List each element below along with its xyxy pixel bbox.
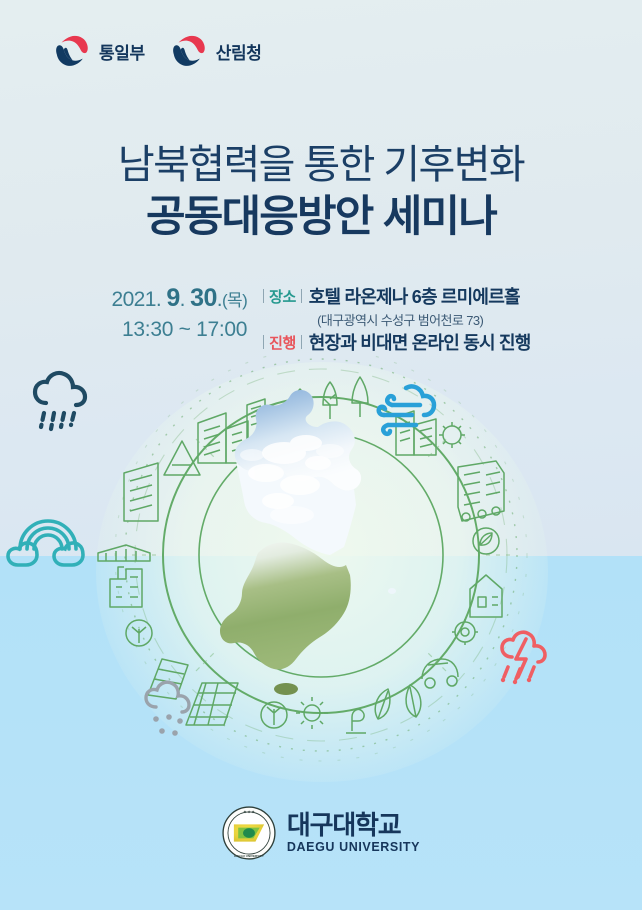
svg-text:★ ★ ★: ★ ★ ★ (242, 810, 254, 814)
wind-cloud-icon (379, 386, 434, 433)
event-datetime: 2021. 9. 30.(목) 13:30 ~ 17:00 (112, 281, 248, 344)
poster-title: 남북협력을 통한 기후변화 공동대응방안 세미나 (0, 143, 642, 243)
event-time: 13:30 ~ 17:00 (112, 316, 248, 344)
university-name-english: DAEGU UNIVERSITY (287, 841, 420, 854)
date-year: 2021. (112, 288, 162, 311)
central-illustration (0, 355, 642, 775)
rainbow-cloud-icon (8, 521, 83, 565)
mode-tag: 진행 (263, 332, 302, 353)
event-location: 장소 호텔 라온제나 6층 르미에르홀 (대구광역시 수성구 범어천로 73) … (263, 281, 530, 355)
government-logos: 통일부 산림청 (54, 33, 261, 69)
seminar-poster: 통일부 산림청 남북협력을 통한 기후변화 공동대응방안 세미나 2021. 9… (0, 0, 642, 910)
thunderstorm-icon (501, 632, 545, 684)
taeguk-icon (54, 33, 90, 69)
daegu-university-seal-icon: ★ ★ ★ DAEGU UNIVERSITY (222, 806, 276, 860)
date-month: 9 (166, 284, 179, 312)
date-day: 30 (190, 284, 217, 312)
place-tag: 장소 (263, 286, 302, 307)
university-name-block: 대구대학교 DAEGU UNIVERSITY (287, 812, 420, 854)
snow-cloud-icon (146, 682, 189, 736)
taeguk-icon (171, 33, 207, 69)
place-address: (대구광역시 수성구 범어천로 73) (317, 310, 530, 329)
rain-cloud-icon (35, 373, 85, 429)
mode-value: 현장과 비대면 온라인 동시 진행 (309, 329, 531, 355)
mode-row: 진행 현장과 비대면 온라인 동시 진행 (263, 329, 530, 355)
university-name-korean: 대구대학교 (287, 812, 420, 838)
title-line-2: 공동대응방안 세미나 (0, 192, 642, 243)
logo-label: 산림청 (216, 39, 262, 64)
place-value: 호텔 라온제나 6층 르미에르홀 (309, 283, 520, 309)
place-row: 장소 호텔 라온제나 6층 르미에르홀 (263, 283, 530, 309)
title-line-1: 남북협력을 통한 기후변화 (0, 143, 642, 188)
event-info: 2021. 9. 30.(목) 13:30 ~ 17:00 장소 호텔 라온제나… (0, 281, 642, 355)
logo-unification-ministry: 통일부 (54, 33, 145, 69)
date-weekday: (목) (222, 291, 247, 310)
event-date: 2021. 9. 30.(목) (112, 282, 248, 314)
date-separator: . (180, 288, 185, 311)
logo-label: 통일부 (99, 39, 145, 64)
logo-korea-forest-service: 산림청 (171, 33, 262, 69)
svg-text:DAEGU UNIVERSITY: DAEGU UNIVERSITY (234, 854, 264, 858)
university-footer: ★ ★ ★ DAEGU UNIVERSITY 대구대학교 DAEGU UNIVE… (0, 806, 642, 860)
